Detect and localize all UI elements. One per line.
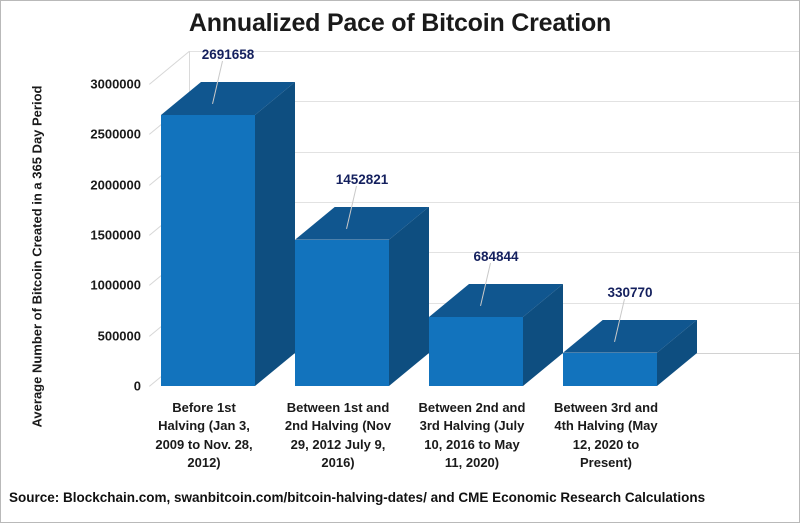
chart-figure: Annualized Pace of Bitcoin Creation Aver… — [0, 0, 800, 523]
y-axis-tick-label: 2000000 — [29, 177, 141, 192]
y-axis-tick-label: 500000 — [29, 328, 141, 343]
y-axis-tick-label: 3000000 — [29, 77, 141, 92]
bar-value-label-1: 2691658 — [141, 47, 315, 62]
category-label-line: 29, 2012 July 9, — [273, 436, 403, 454]
x-axis-category-label-1: Before 1stHalving (Jan 3,2009 to Nov. 28… — [139, 399, 269, 473]
category-label-line: 12, 2020 to — [541, 436, 671, 454]
category-label-line: Between 3rd and — [541, 399, 671, 417]
bar-front-face — [161, 115, 255, 386]
bar-front-face — [429, 317, 523, 386]
bar-value-label-4: 330770 — [543, 285, 717, 300]
bar-value-label-3: 684844 — [409, 249, 583, 264]
plot-area: 0500000100000015000002000000250000030000… — [1, 1, 800, 523]
category-label-line: 2016) — [273, 454, 403, 472]
bar-1[interactable] — [161, 82, 295, 386]
x-axis-category-label-4: Between 3rd and4th Halving (May12, 2020 … — [541, 399, 671, 473]
category-label-line: 3rd Halving (July — [407, 417, 537, 435]
category-label-line: 2012) — [139, 454, 269, 472]
y-axis-tick-label: 1000000 — [29, 278, 141, 293]
category-label-line: Present) — [541, 454, 671, 472]
bar-front-face — [563, 353, 657, 386]
y-axis-tick-label: 0 — [29, 379, 141, 394]
y-axis-tick-label: 1500000 — [29, 228, 141, 243]
source-note: Source: Blockchain.com, swanbitcoin.com/… — [9, 490, 705, 505]
category-label-line: Between 1st and — [273, 399, 403, 417]
bar-value-label-2: 1452821 — [275, 172, 449, 187]
category-label-line: Before 1st — [139, 399, 269, 417]
x-axis-category-label-2: Between 1st and2nd Halving (Nov29, 2012 … — [273, 399, 403, 473]
category-label-line: 2009 to Nov. 28, — [139, 436, 269, 454]
bar-front-face — [295, 240, 389, 386]
category-label-line: Between 2nd and — [407, 399, 537, 417]
x-axis-category-label-3: Between 2nd and3rd Halving (July10, 2016… — [407, 399, 537, 473]
category-label-line: 11, 2020) — [407, 454, 537, 472]
bar-2[interactable] — [295, 207, 429, 386]
category-label-line: 4th Halving (May — [541, 417, 671, 435]
y-axis-tick-label: 2500000 — [29, 127, 141, 142]
bar-side-face — [255, 82, 295, 386]
category-label-line: Halving (Jan 3, — [139, 417, 269, 435]
category-label-line: 2nd Halving (Nov — [273, 417, 403, 435]
bar-4[interactable] — [563, 320, 697, 386]
category-label-line: 10, 2016 to May — [407, 436, 537, 454]
